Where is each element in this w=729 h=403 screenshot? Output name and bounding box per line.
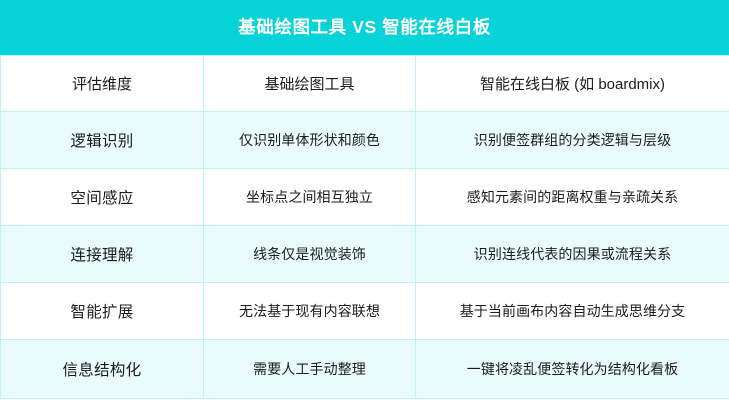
row-smart-value: 识别连线代表的因果或流程关系: [416, 226, 729, 283]
row-smart-value: 感知元素间的距离权重与亲疏关系: [416, 169, 729, 226]
comparison-table: 评估维度 基础绘图工具 智能在线白板 (如 boardmix) 逻辑识别 仅识别…: [0, 55, 729, 399]
comparison-table-container: 评估维度 基础绘图工具 智能在线白板 (如 boardmix) 逻辑识别 仅识别…: [0, 55, 729, 403]
row-dimension-label: 空间感应: [1, 169, 204, 226]
table-row: 空间感应 坐标点之间相互独立 感知元素间的距离权重与亲疏关系: [1, 169, 729, 226]
column-header-basic-tool: 基础绘图工具: [204, 56, 416, 112]
column-header-smart-whiteboard: 智能在线白板 (如 boardmix): [416, 56, 729, 112]
comparison-infographic: 基础绘图工具 VS 智能在线白板 评估维度 基础绘图工具 智能在线白板 (如 b…: [0, 0, 729, 403]
row-basic-value: 需要人工手动整理: [204, 340, 416, 399]
table-body: 逻辑识别 仅识别单体形状和颜色 识别便签群组的分类逻辑与层级 空间感应 坐标点之…: [1, 112, 729, 399]
row-basic-value: 无法基于现有内容联想: [204, 283, 416, 340]
row-smart-value: 基于当前画布内容自动生成思维分支: [416, 283, 729, 340]
row-basic-value: 坐标点之间相互独立: [204, 169, 416, 226]
row-basic-value: 线条仅是视觉装饰: [204, 226, 416, 283]
row-basic-value: 仅识别单体形状和颜色: [204, 112, 416, 169]
column-header-dimension: 评估维度: [1, 56, 204, 112]
row-dimension-label: 连接理解: [1, 226, 204, 283]
page-title: 基础绘图工具 VS 智能在线白板: [238, 19, 491, 37]
table-row: 逻辑识别 仅识别单体形状和颜色 识别便签群组的分类逻辑与层级: [1, 112, 729, 169]
row-dimension-label: 逻辑识别: [1, 112, 204, 169]
table-row: 信息结构化 需要人工手动整理 一键将凌乱便签转化为结构化看板: [1, 340, 729, 399]
row-smart-value: 一键将凌乱便签转化为结构化看板: [416, 340, 729, 399]
row-smart-value: 识别便签群组的分类逻辑与层级: [416, 112, 729, 169]
table-row: 智能扩展 无法基于现有内容联想 基于当前画布内容自动生成思维分支: [1, 283, 729, 340]
title-banner: 基础绘图工具 VS 智能在线白板: [0, 0, 729, 55]
table-header-row: 评估维度 基础绘图工具 智能在线白板 (如 boardmix): [1, 56, 729, 112]
row-dimension-label: 智能扩展: [1, 283, 204, 340]
row-dimension-label: 信息结构化: [1, 340, 204, 399]
table-header: 评估维度 基础绘图工具 智能在线白板 (如 boardmix): [1, 56, 729, 112]
table-row: 连接理解 线条仅是视觉装饰 识别连线代表的因果或流程关系: [1, 226, 729, 283]
